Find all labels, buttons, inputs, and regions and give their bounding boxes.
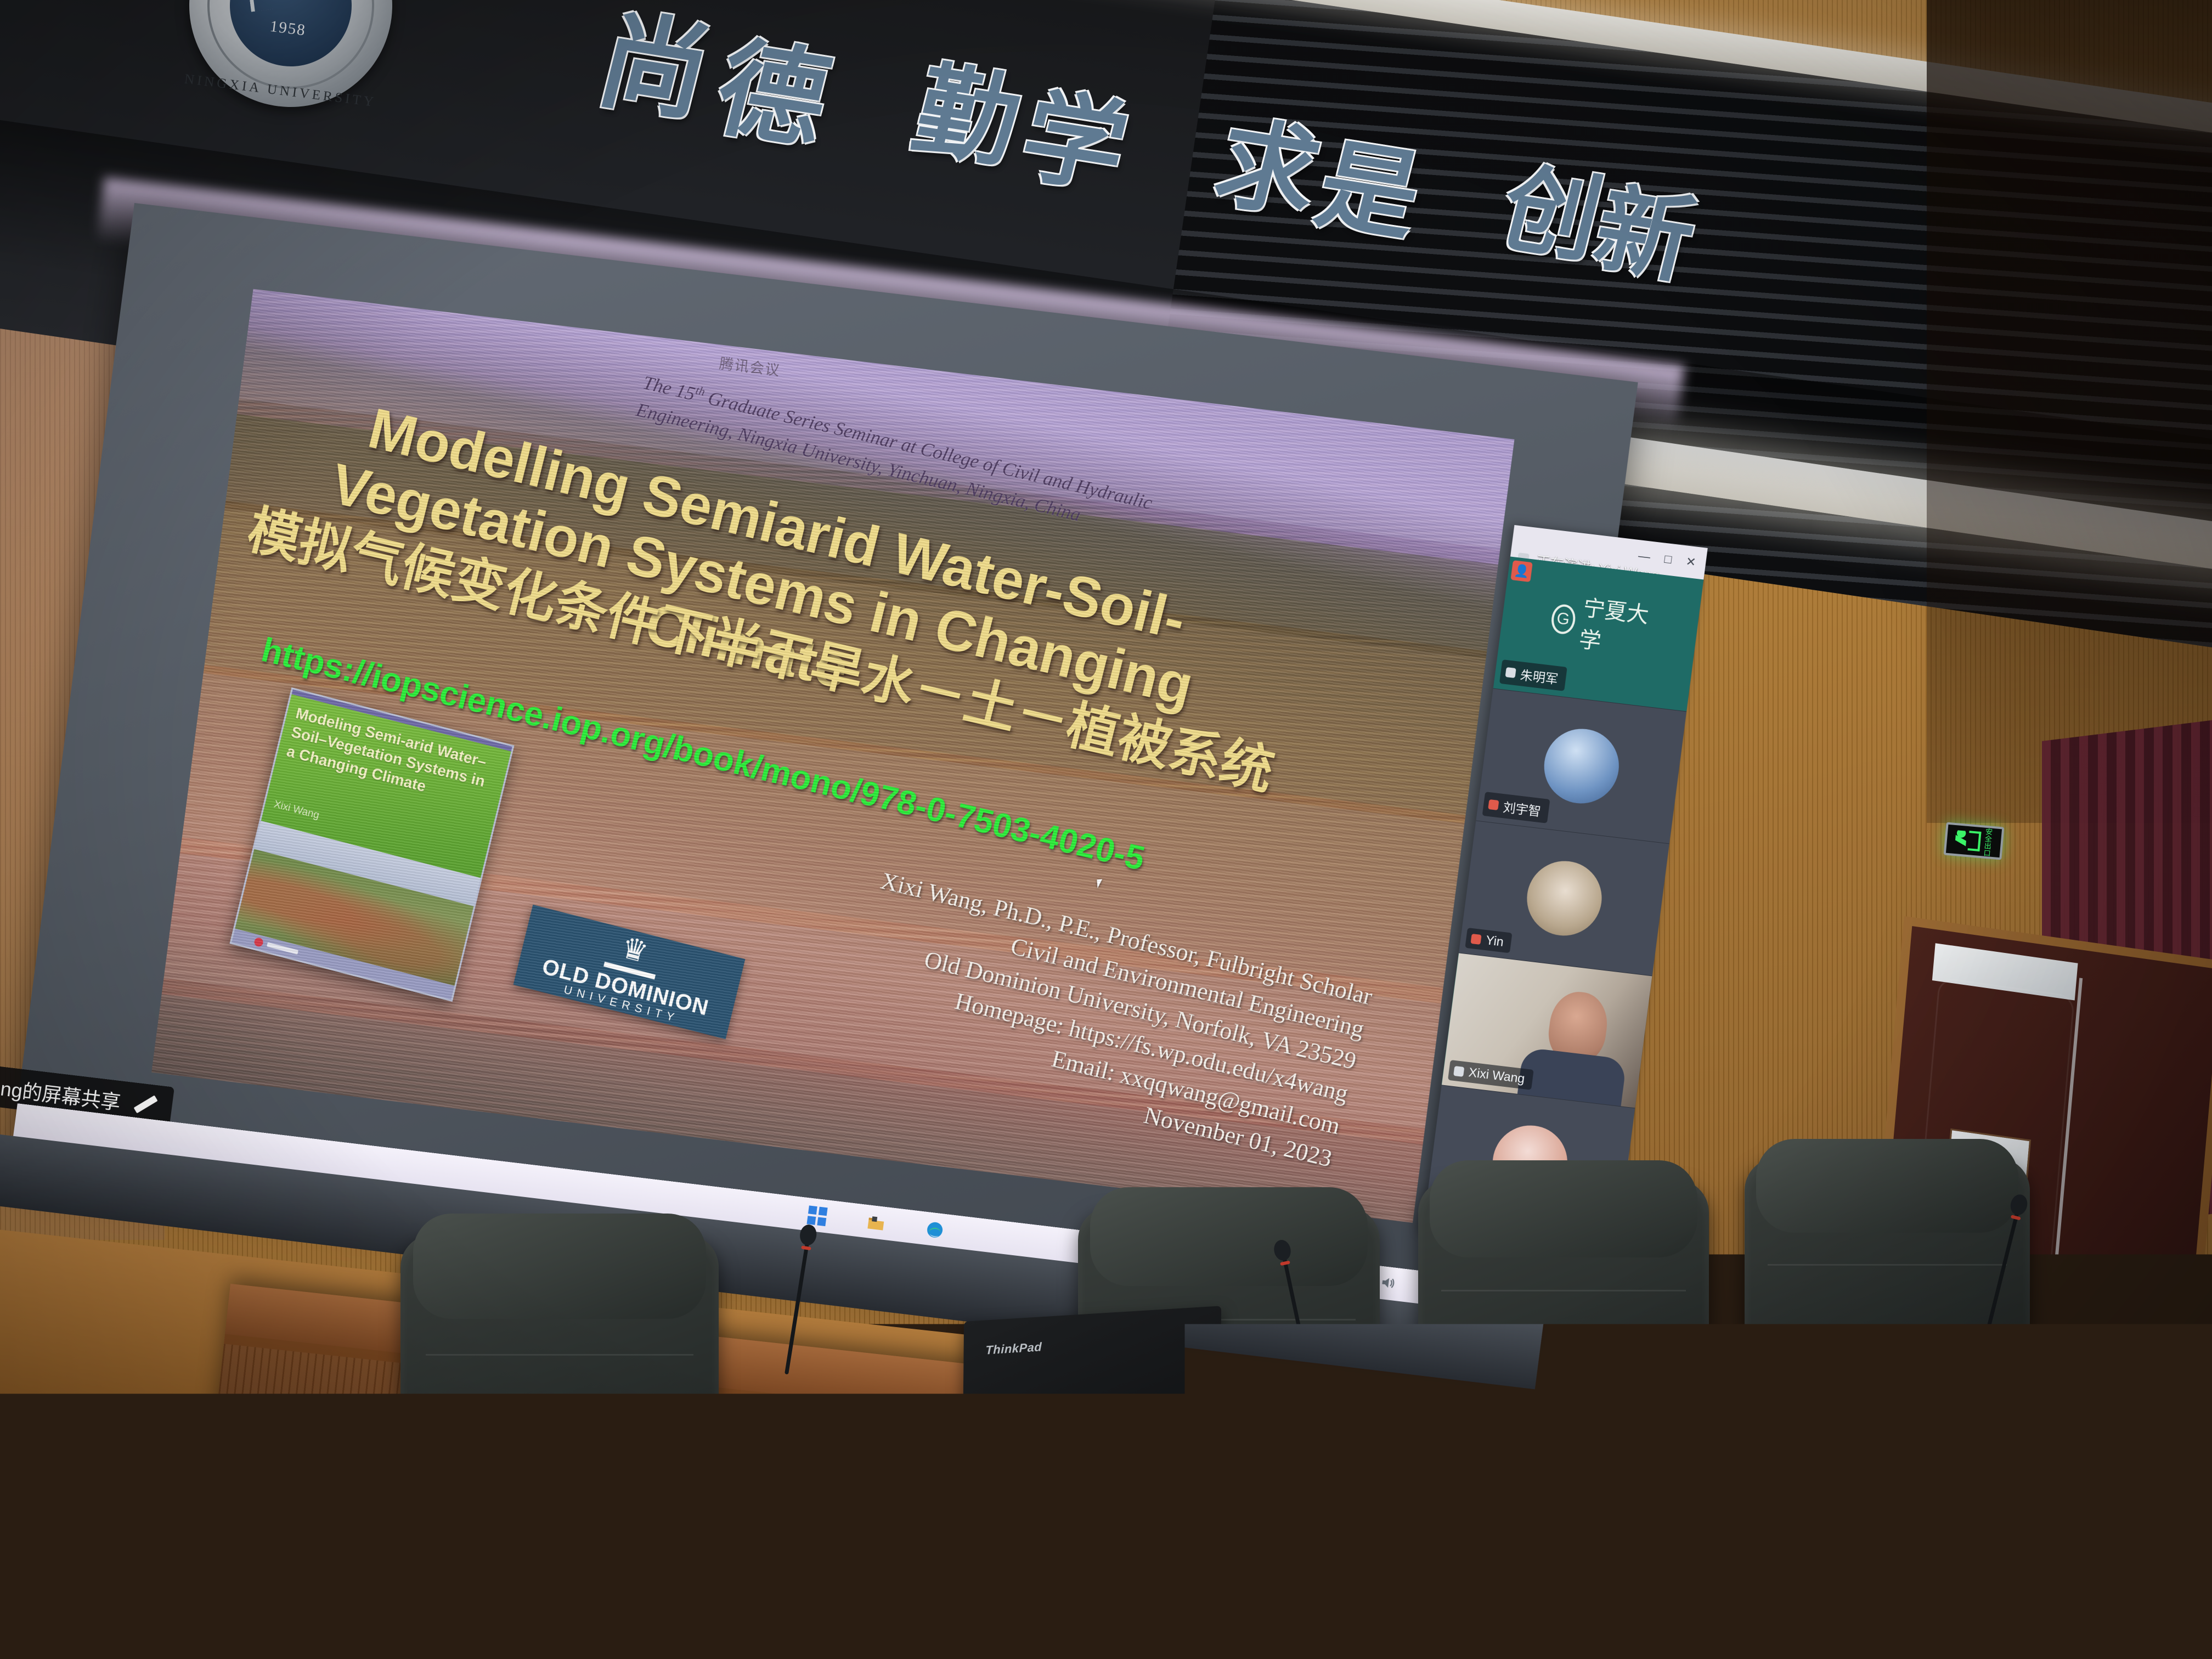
chair-seam [426, 1354, 693, 1356]
participant-tile[interactable]: Yin [1459, 821, 1669, 976]
desk-nameplate: 王 喜 喜 [1510, 1382, 1682, 1476]
file-explorer-icon[interactable] [866, 1212, 887, 1233]
org-logo-text: 宁夏大学 [1577, 590, 1652, 661]
annotate-pencil-icon[interactable] [134, 1095, 158, 1113]
host-badge-icon: 👤 [1510, 560, 1532, 582]
windows-start-icon[interactable] [807, 1205, 828, 1226]
participant-name-chip: 朱明军 [1499, 659, 1567, 691]
participant-tile-active-speaker[interactable]: Xixi Wang [1442, 953, 1652, 1108]
nameplate-char-1: 王 [1545, 1407, 1578, 1445]
participant-name: Yin [1485, 933, 1505, 950]
participant-name: 朱明军 [1519, 664, 1559, 687]
presentation-slide[interactable]: 腾讯会议 The 15th Graduate Series Seminar at… [151, 289, 1514, 1223]
publisher-wordmark [267, 942, 298, 954]
chair-headrest [1090, 1187, 1368, 1286]
chair-headrest [413, 1214, 706, 1319]
nameplate-char-2: 喜 [1580, 1410, 1613, 1448]
avatar [1522, 857, 1606, 940]
thinkpad-logo: ThinkPad [985, 1340, 1042, 1357]
avatar [1539, 725, 1623, 808]
mic-muted-icon [1488, 799, 1499, 810]
foreground-placard-char: 大 [97, 1615, 137, 1659]
chair-headrest [1756, 1139, 2018, 1233]
mouse-cursor [1097, 879, 1107, 888]
participant-name: 刘宇智 [1502, 797, 1542, 820]
chair-headrest [1430, 1160, 1697, 1257]
mic-on-icon [1505, 667, 1516, 678]
exit-door-icon [1967, 831, 1981, 851]
chair-seam [1768, 1264, 2007, 1266]
participant-name-chip: 刘宇智 [1482, 792, 1550, 823]
emergency-exit-sign: 安全出口 [1944, 822, 2005, 860]
participant-name: Xixi Wang [1468, 1065, 1525, 1086]
cable [1026, 1481, 1333, 1646]
foreground-placard: 大 [78, 1553, 250, 1659]
participant-tile[interactable]: 刘宇智 [1476, 689, 1686, 844]
mic-muted-icon [1471, 933, 1482, 944]
chair-seam [1441, 1290, 1685, 1291]
nameplate-face: 王 喜 喜 [1517, 1387, 1677, 1471]
thinkpad-wordmark: ThinkPad [985, 1340, 1042, 1357]
exit-sign-label: 安全出口 [1981, 827, 1994, 856]
participant-video-feed [1442, 953, 1652, 1108]
volume-icon[interactable] [1378, 1273, 1398, 1294]
running-man-icon [1954, 830, 1967, 850]
nameplate-char-3: 喜 [1615, 1413, 1648, 1451]
conference-chair [400, 1234, 719, 1585]
participant-tile[interactable]: G 宁夏大学 👤 朱明军 [1493, 556, 1704, 712]
wall-shadow-right [1927, 0, 2212, 823]
conference-chair [1745, 1158, 2030, 1470]
org-logo: G 宁夏大学 [1547, 586, 1652, 661]
org-logo-mark-icon: G [1549, 603, 1577, 635]
crown-icon: ♛ [619, 935, 651, 966]
edge-browser-icon[interactable] [924, 1220, 945, 1240]
participant-name-chip: Yin [1465, 928, 1513, 953]
lecture-hall-photo: 1958 NINGXIA UNIVERSITY 尚 德 勤 学 求 是 创 新 … [0, 0, 2212, 1659]
publisher-dot-icon [253, 937, 264, 948]
mic-on-icon [1453, 1065, 1464, 1076]
